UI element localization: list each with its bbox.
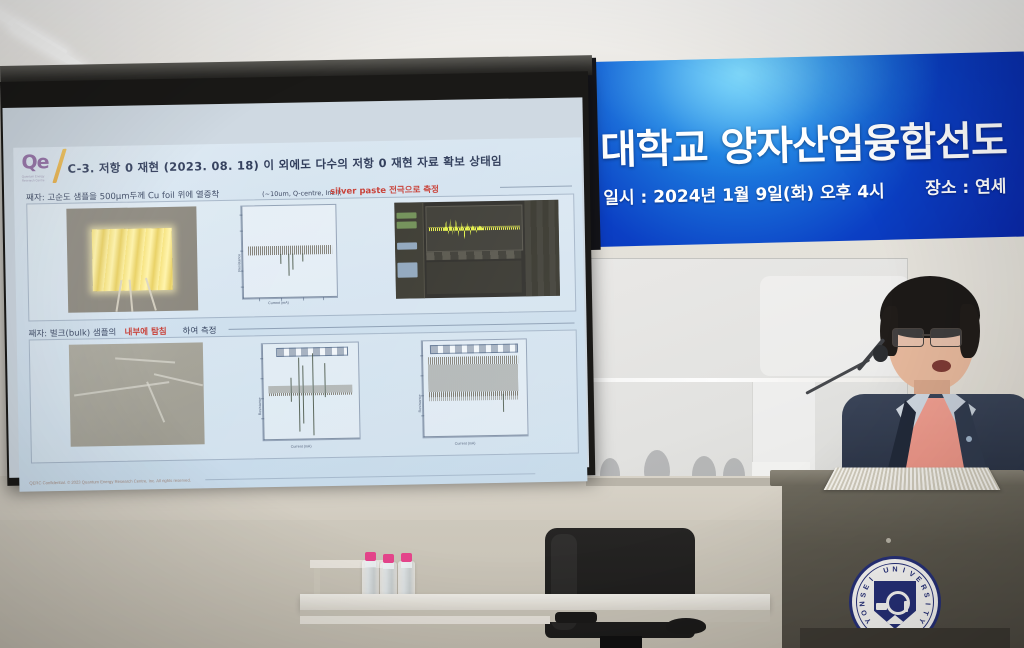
y-tick <box>240 251 243 252</box>
y-axis <box>241 207 244 299</box>
speaker-hair-side <box>960 304 980 358</box>
seal-character: U <box>882 565 889 575</box>
photo-scratch <box>154 373 203 386</box>
x-tick <box>259 298 260 301</box>
data-spike <box>280 254 281 264</box>
shield-book-icon <box>876 603 887 610</box>
wall-door <box>752 382 815 470</box>
screen-surface: Qe Quantum Energy Research Centre C-3. 저… <box>2 97 589 478</box>
scope-button <box>397 222 417 229</box>
y-tick <box>260 378 263 379</box>
row2-plot1-xlabel: Current (mA) <box>291 444 312 448</box>
podium-screw <box>886 538 891 543</box>
y-tick <box>240 231 243 232</box>
presentation-scene: 대학교 양자산업융합선도 일시 : 2024년 1월 9일(화) 오후 4시 장… <box>0 0 1024 648</box>
seal-character: I <box>867 576 875 584</box>
scope-button <box>398 262 418 278</box>
slide-footer-rule <box>205 473 535 480</box>
bottle-neck <box>383 562 394 569</box>
table-object-remote[interactable] <box>666 618 706 634</box>
front-table <box>300 594 770 610</box>
bottle-neck <box>365 560 376 567</box>
seal-character: T <box>921 609 931 616</box>
iv-scatter-plot <box>240 204 338 300</box>
row2-label-red: 내부에 탐침 <box>124 325 166 338</box>
data-spike <box>302 253 303 261</box>
scope-toolbar <box>426 250 521 259</box>
seal-character: V <box>908 569 917 579</box>
data-noise-band <box>269 385 353 397</box>
chair-base <box>600 636 642 648</box>
speaker-mouth <box>932 360 951 372</box>
scope-button <box>397 212 417 219</box>
projection-screen: Qe Quantum Energy Research Centre C-3. 저… <box>0 71 595 486</box>
row2-rule <box>229 323 575 330</box>
podium-base <box>800 628 1010 648</box>
photo-scratch <box>115 357 175 363</box>
data-spike <box>292 254 293 270</box>
slide-footer: QERC Confidential. © 2023 Quantum Energy… <box>29 478 191 486</box>
row2-label-suffix: 하여 측정 <box>182 324 216 337</box>
bottle-cap <box>383 554 394 563</box>
row1-plot-xlabel: Current (mA) <box>268 301 289 305</box>
photo-scratch <box>147 381 166 422</box>
seal-character: E <box>861 583 871 591</box>
table-lower-edge <box>300 616 550 624</box>
y-tick <box>421 415 424 416</box>
spike-plot <box>261 341 361 441</box>
seal-character: I <box>923 603 932 606</box>
seal-character: N <box>857 601 866 607</box>
row1-rule <box>500 186 572 188</box>
table-object-cable[interactable] <box>555 612 597 623</box>
sample-photo-bulk <box>69 342 205 446</box>
scope-button <box>397 243 417 250</box>
qe-logo-mark: Qe <box>21 153 55 173</box>
scope-right-panel <box>524 200 560 297</box>
photo-scratch <box>74 381 169 396</box>
data-noise-band <box>429 392 519 402</box>
y-tick <box>260 358 263 359</box>
instrument-screenshot <box>394 200 560 299</box>
scope-sidebar <box>394 202 425 299</box>
seal-character: S <box>922 592 932 599</box>
glasses-bridge <box>922 334 931 336</box>
seal-character: I <box>902 566 906 575</box>
y-tick <box>241 287 244 288</box>
bottle-cap <box>365 552 376 561</box>
row1-label-red: silver paste 전극으로 측정 <box>330 183 439 197</box>
x-tick <box>303 297 304 300</box>
seal-character: R <box>919 582 929 591</box>
data-noise-band <box>248 245 332 256</box>
y-tick <box>420 375 423 376</box>
seal-character: S <box>858 592 868 599</box>
lapel-pin <box>966 436 972 442</box>
microphone-icon <box>873 345 888 362</box>
x-tick <box>323 297 324 300</box>
y-tick <box>420 355 423 356</box>
presentation-slide: Qe Quantum Energy Research Centre C-3. 저… <box>13 137 587 491</box>
seal-character: O <box>859 609 869 617</box>
seal-character: N <box>892 565 897 574</box>
scope-waveform-area <box>426 204 524 252</box>
bottle-cap <box>401 553 412 562</box>
gold-sample-chip <box>91 228 173 292</box>
glasses-icon <box>892 328 924 347</box>
row1-plot-ylabel: Resistance <box>237 254 241 272</box>
row2-plot2-xlabel: Current (mA) <box>455 441 476 445</box>
row2-plot1-ylabel: Resistance <box>258 397 262 415</box>
row2-plot2-ylabel: Resistance <box>418 395 422 413</box>
seal-character: Y <box>917 616 927 625</box>
bottle-neck <box>401 561 412 568</box>
banner-title: 대학교 양자산업융합선도 <box>599 106 1024 175</box>
slide-title: C-3. 저항 0 재현 (2023. 08. 18) 이 외에도 다수의 저항… <box>67 152 567 177</box>
event-banner: 대학교 양자산업융합선도 일시 : 2024년 1월 9일(화) 오후 4시 장… <box>592 51 1024 246</box>
qe-logo: Qe Quantum Energy Research Centre <box>21 153 56 186</box>
glasses-icon <box>930 328 962 347</box>
y-tick <box>261 418 264 419</box>
qe-logo-subtext: Quantum Energy Research Centre <box>22 174 56 183</box>
plot-legend <box>430 344 518 355</box>
data-spike <box>324 363 326 397</box>
scope-lower-panel <box>427 260 523 294</box>
banner-date: 일시 : 2024년 1월 9일(화) 오후 4시 <box>603 177 885 209</box>
shield-torch-icon <box>904 601 908 612</box>
noise-band-plot <box>421 338 529 438</box>
data-spike <box>290 378 291 402</box>
sample-photo-gold <box>66 206 198 312</box>
y-tick <box>239 215 242 216</box>
seal-character: Y <box>863 616 873 625</box>
data-spike <box>288 254 289 276</box>
banner-place: 장소 : 연세 <box>925 172 1007 199</box>
